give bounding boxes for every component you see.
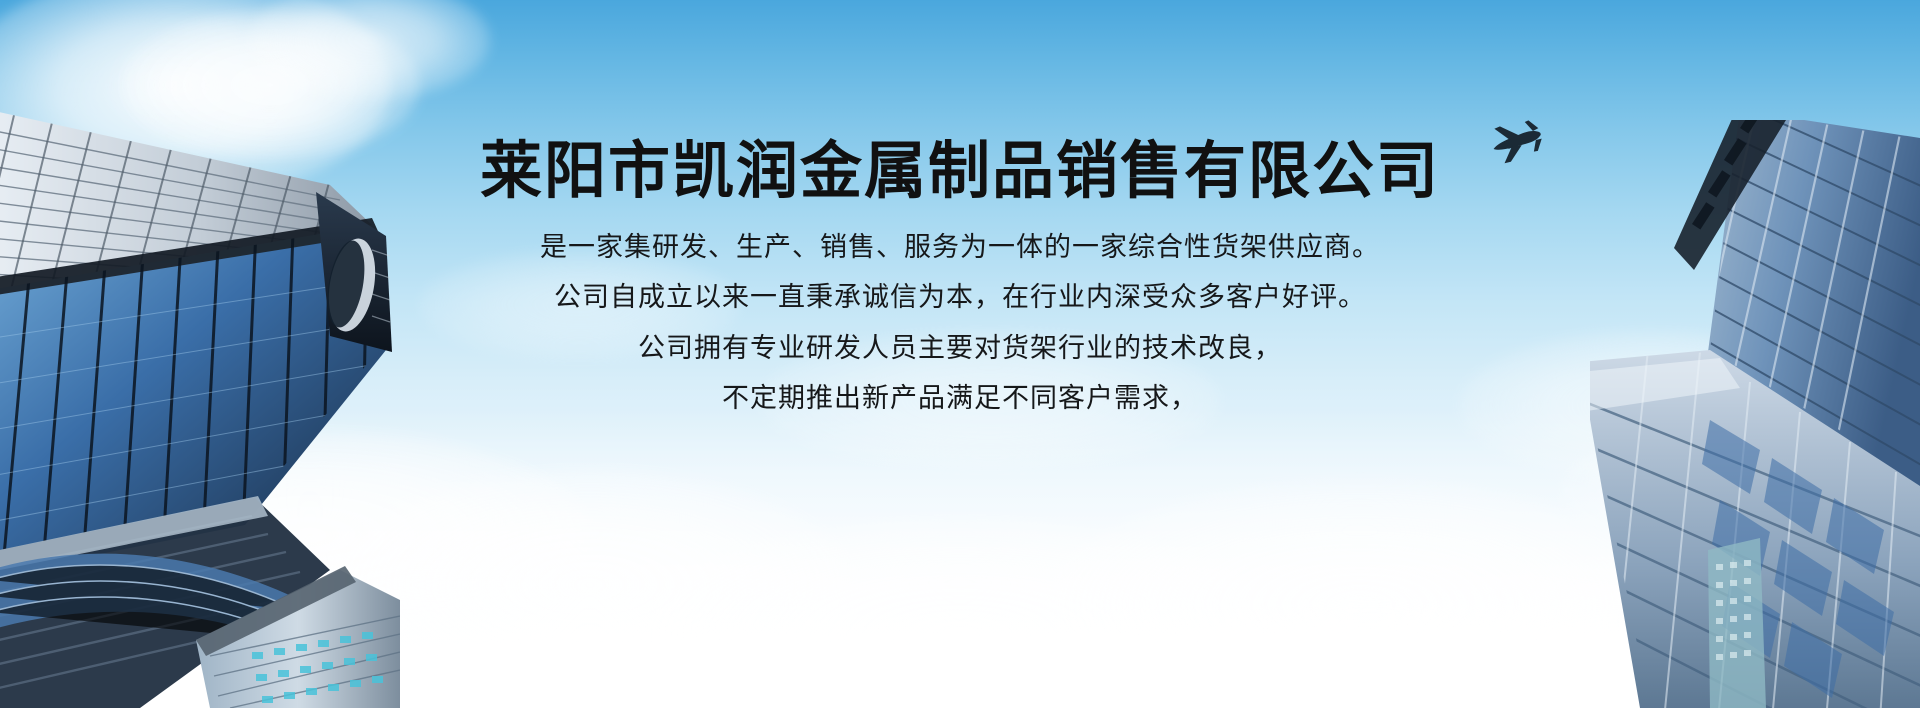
description-line-4: 不定期推出新产品满足不同客户需求， bbox=[722, 383, 1198, 415]
banner-content: 莱阳市凯润金属制品销售有限公司 是一家集研发、生产、销售、服务为一体的一家综合性… bbox=[0, 0, 1920, 708]
description-line-2: 公司自成立以来一直秉承诚信为本，在行业内深受众多客户好评。 bbox=[554, 282, 1366, 314]
description-line-1: 是一家集研发、生产、销售、服务为一体的一家综合性货架供应商。 bbox=[540, 232, 1380, 264]
company-hero-banner: 莱阳市凯润金属制品销售有限公司 是一家集研发、生产、销售、服务为一体的一家综合性… bbox=[0, 0, 1920, 708]
page-title: 莱阳市凯润金属制品销售有限公司 bbox=[480, 138, 1440, 204]
description-line-3: 公司拥有专业研发人员主要对货架行业的技术改良， bbox=[638, 333, 1282, 365]
company-description: 是一家集研发、生产、销售、服务为一体的一家综合性货架供应商。 公司自成立以来一直… bbox=[540, 232, 1380, 416]
